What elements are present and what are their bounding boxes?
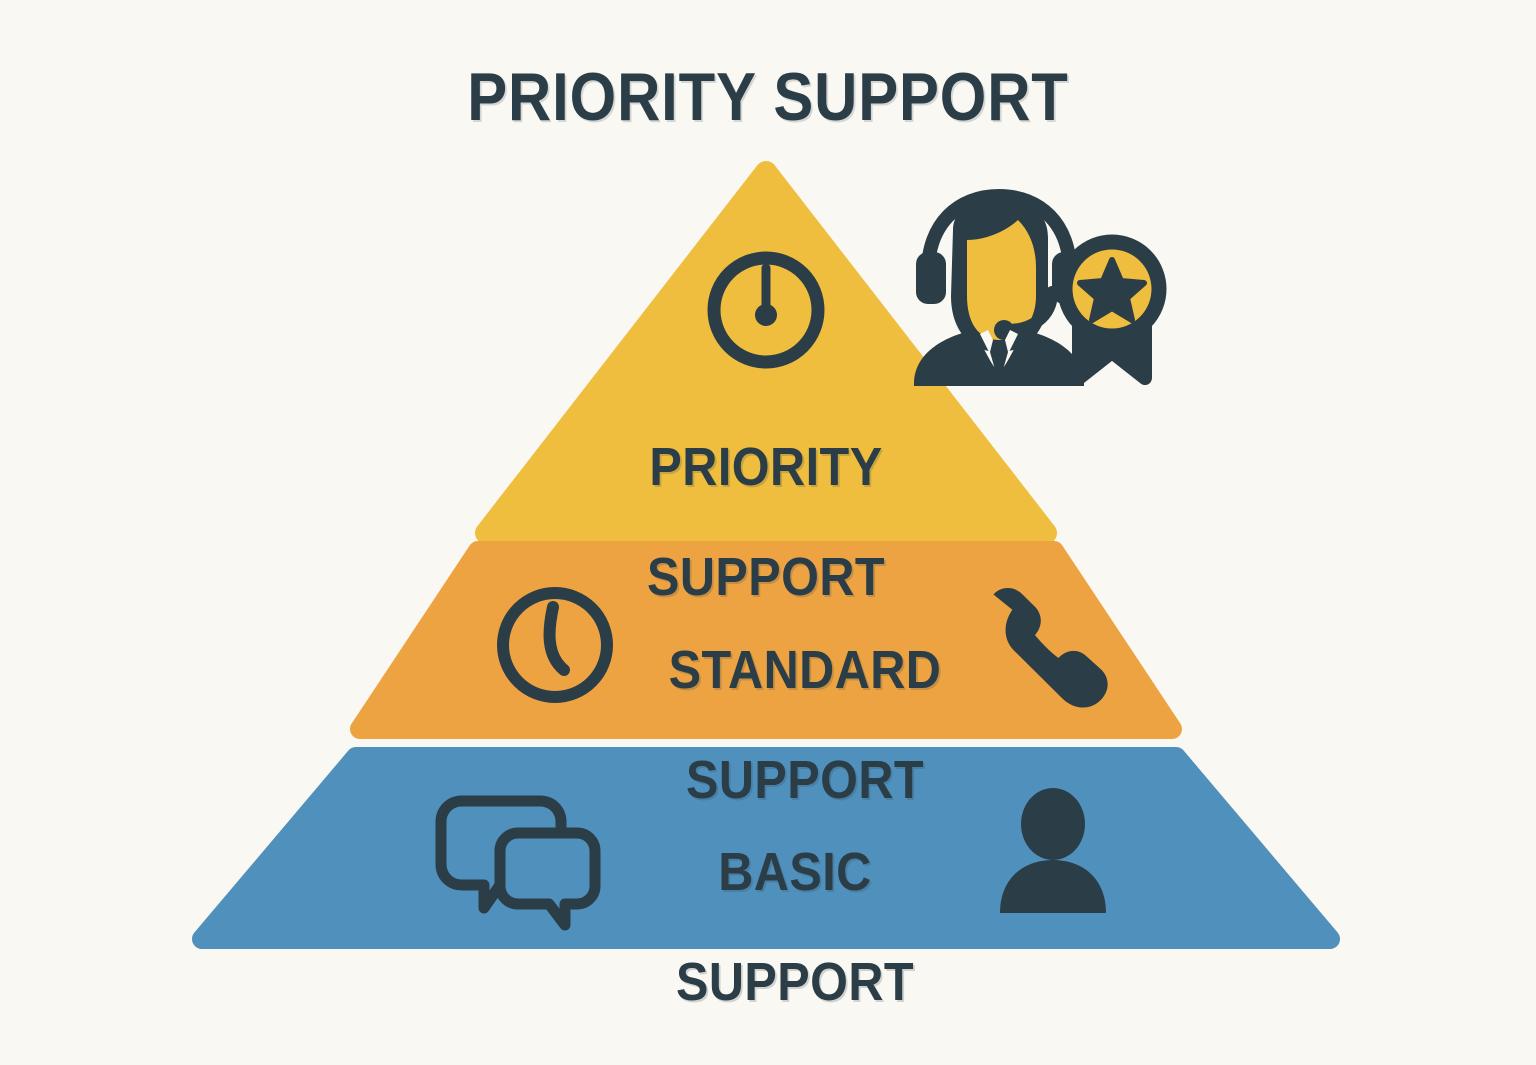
pyramid-infographic: PRIORITY SUPPORT: [0, 0, 1536, 1024]
tier-label-standard-line1: STANDARD: [594, 643, 1017, 698]
tier-label-basic-line1: BASIC: [588, 845, 1002, 900]
award-badge-star-icon: [1065, 242, 1159, 378]
tier-label-priority-line1: PRIORITY: [586, 440, 946, 495]
tier-label-basic-line2: SUPPORT: [588, 955, 1002, 1010]
